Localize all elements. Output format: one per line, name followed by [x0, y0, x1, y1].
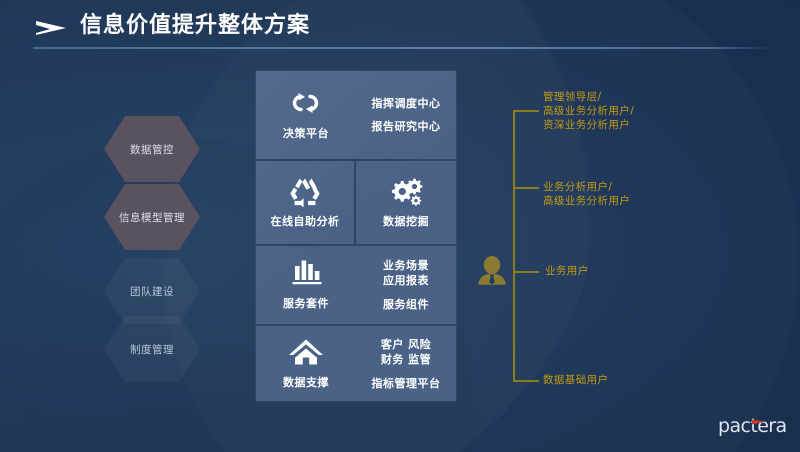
cell-label: 数据支撑 — [283, 374, 329, 390]
bar-chart-icon — [289, 259, 323, 289]
pactera-logo: pactera — [718, 414, 784, 438]
cell-sub-line-1: 业务场景 — [383, 258, 429, 273]
sync-loop-icon — [289, 89, 323, 119]
page-title: 信息价值提升整体方案 — [80, 11, 310, 41]
cell-sub-line-2: 财务 监管 — [381, 352, 431, 367]
sidebar-item-label: 数据管控 — [130, 142, 174, 157]
bracket-branch-1 — [513, 110, 539, 112]
cell-sub-line-2: 应用报表 — [383, 273, 429, 288]
home-icon — [288, 338, 324, 368]
cell-label: 决策平台 — [283, 125, 329, 141]
red-flag-icon — [751, 413, 767, 422]
cell-label: 服务套件 — [283, 295, 329, 311]
user-icon — [472, 252, 512, 292]
sidebar-item-label: 团队建设 — [130, 284, 174, 299]
cell-sub-line-2: 报告研究中心 — [372, 119, 441, 134]
gears-icon — [388, 177, 424, 207]
sidebar-item-policy-mgmt[interactable]: 制度管理 — [104, 316, 200, 382]
cell-label: 数据挖掘 — [383, 213, 429, 229]
title-divider — [33, 47, 771, 49]
sidebar-item-label: 制度管理 — [130, 342, 174, 357]
user-group-label-4: 数据基础用户 — [543, 373, 608, 387]
cell-service-components[interactable]: 业务场景 应用报表 服务组件 — [356, 246, 456, 324]
user-group-label-2: 业务分析用户/高级业务分析用户 — [543, 180, 630, 208]
slide-header: 信息价值提升整体方案 — [0, 0, 800, 52]
bracket-branch-2 — [513, 187, 539, 189]
triangle-right-icon — [36, 21, 66, 35]
cell-metric-mgmt-platform[interactable]: 客户 风险 财务 监管 指标管理平台 — [356, 326, 456, 401]
cell-command-and-report-centers[interactable]: 指挥调度中心 报告研究中心 — [356, 71, 456, 159]
user-group-label-3: 业务用户 — [545, 264, 589, 278]
cell-decision-platform[interactable]: 决策平台 — [256, 71, 356, 159]
cell-label: 服务组件 — [383, 296, 429, 312]
sidebar-item-data-governance[interactable]: 数据管控 — [104, 116, 200, 182]
cell-label: 指标管理平台 — [372, 375, 441, 391]
cell-data-mining[interactable]: 数据挖掘 — [356, 161, 456, 244]
hexagon-sidebar: 数据管控 信息模型管理 团队建设 制度管理 — [104, 116, 200, 368]
cell-label: 在线自助分析 — [271, 213, 340, 229]
bracket-line — [513, 110, 515, 382]
sidebar-item-label: 信息模型管理 — [119, 210, 185, 225]
bracket-branch-4 — [513, 380, 539, 382]
cell-sub-line-1: 指挥调度中心 — [372, 96, 441, 111]
bracket-branch-3 — [513, 271, 539, 273]
cell-data-support[interactable]: 数据支撑 — [256, 326, 356, 401]
cell-online-self-service-analysis[interactable]: 在线自助分析 — [256, 161, 356, 244]
recycle-icon — [289, 177, 321, 207]
sidebar-item-team-building[interactable]: 团队建设 — [104, 258, 200, 324]
slide-canvas: 信息价值提升整体方案 数据管控 信息模型管理 团队建设 制度管理 — [0, 0, 800, 452]
panel-row-analysis: 在线自助分析 数据挖掘 — [256, 161, 456, 246]
panel-row-decision: 决策平台 指挥调度中心 报告研究中心 — [256, 71, 456, 161]
capability-matrix-panel: 决策平台 指挥调度中心 报告研究中心 — [256, 71, 456, 401]
panel-row-service: 服务套件 业务场景 应用报表 服务组件 — [256, 246, 456, 326]
panel-row-data-support: 数据支撑 客户 风险 财务 监管 指标管理平台 — [256, 326, 456, 401]
user-group-label-1: 管理领导层/高级业务分析用户/资深业务分析用户 — [543, 90, 634, 132]
sidebar-item-info-model-mgmt[interactable]: 信息模型管理 — [104, 184, 200, 250]
cell-service-suite[interactable]: 服务套件 — [256, 246, 356, 324]
cell-sub-line-1: 客户 风险 — [381, 337, 431, 352]
